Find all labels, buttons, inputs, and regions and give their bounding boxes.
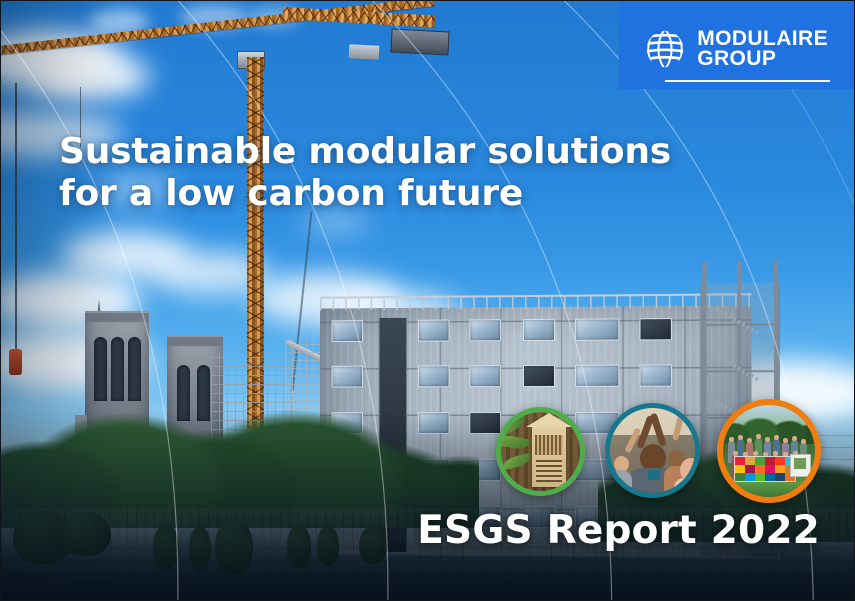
headline-line-1: Sustainable modular solutions: [59, 131, 679, 173]
badge-team-sdg-banner: [717, 399, 821, 503]
page-title: Sustainable modular solutions for a low …: [59, 131, 679, 216]
report-title: ESGS Report 2022: [417, 508, 820, 553]
info-board: [790, 454, 811, 477]
report-cover-page: MODULAIRE GROUP Sustainable modular solu…: [0, 0, 855, 601]
globe-icon: [643, 27, 687, 71]
logo-underline: [665, 80, 830, 82]
crane-counterweight: [390, 28, 449, 55]
headline-line-2: for a low carbon future: [59, 173, 679, 215]
sdg-banner: [734, 456, 796, 482]
badge-employees-celebrating: [605, 403, 700, 498]
modulaire-group-logo[interactable]: MODULAIRE GROUP: [643, 27, 828, 71]
logo-wordmark: MODULAIRE GROUP: [697, 29, 828, 68]
logo-line-2: GROUP: [697, 49, 828, 69]
badge-insect-hotel: [496, 407, 585, 496]
